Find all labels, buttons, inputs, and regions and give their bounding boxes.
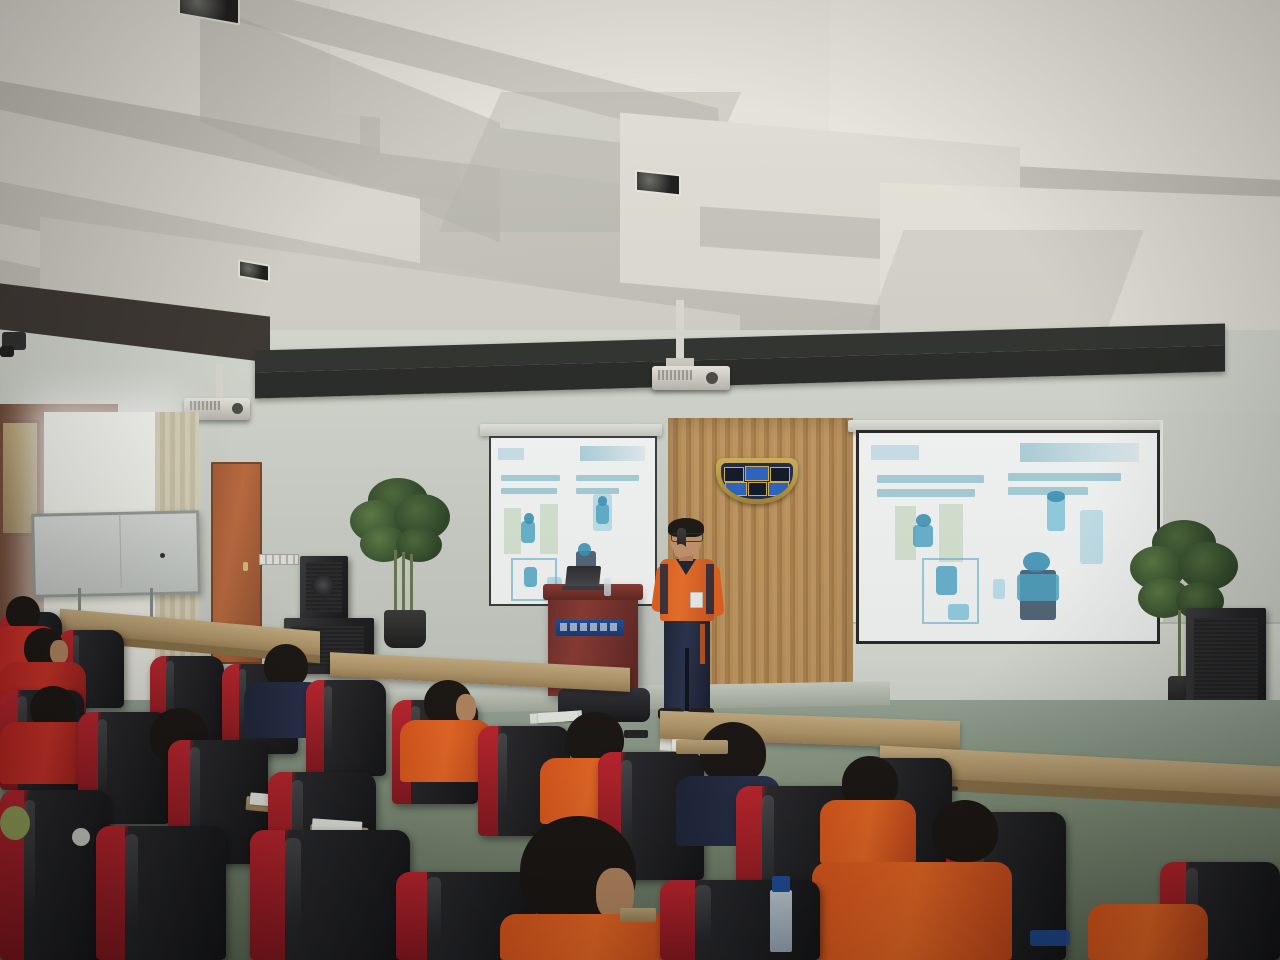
water-bottle[interactable] — [604, 578, 611, 596]
presenter-laptop[interactable] — [565, 566, 601, 588]
presenter-leg-gap — [685, 648, 689, 711]
slide-title-left — [580, 446, 646, 461]
seat[interactable] — [96, 826, 226, 960]
uniform-stripe — [706, 564, 714, 614]
id-badge — [690, 592, 703, 608]
seat-writing-tablet[interactable] — [620, 908, 656, 922]
attendee-face — [456, 694, 476, 722]
seat[interactable] — [306, 680, 386, 776]
slide-header-accent-right — [871, 445, 919, 460]
recessed-ceiling-light — [635, 170, 681, 197]
slide-body-line — [877, 475, 984, 483]
mobile-phone[interactable] — [624, 730, 648, 738]
projection-screen-right — [856, 430, 1160, 644]
presenter-hand — [674, 544, 687, 558]
attendee-body — [812, 862, 1012, 960]
geely-automotive-emblem — [716, 458, 798, 504]
attendee-head — [932, 800, 998, 862]
attendee-face — [50, 640, 68, 664]
attendee-body — [820, 800, 916, 864]
slide-body-line — [501, 488, 557, 495]
projector-lens-icon — [706, 372, 718, 384]
eyeglasses-icon — [671, 533, 703, 542]
seat[interactable] — [250, 830, 410, 960]
door-handle-icon[interactable] — [243, 562, 248, 571]
meeting-room-photo — [0, 0, 1280, 960]
bag-item — [0, 806, 30, 840]
bottle-cap — [772, 876, 790, 892]
whiteboard-magnet — [160, 553, 165, 558]
slide-body-line — [501, 475, 560, 482]
mobile-whiteboard[interactable] — [31, 510, 201, 597]
slide-body-line — [576, 475, 638, 482]
projector-vent — [190, 401, 220, 410]
light-switch-panel[interactable] — [259, 554, 299, 565]
lectern-plaque-text — [560, 623, 618, 631]
camera-lens-icon — [0, 346, 14, 357]
seat[interactable] — [660, 880, 820, 960]
cup — [72, 828, 90, 846]
slide-right — [859, 433, 1157, 641]
projector-mount-pole — [216, 364, 223, 400]
slide-body-line — [1008, 473, 1121, 481]
projector-vent — [658, 370, 692, 380]
slide-body-line — [576, 488, 619, 495]
blue-item — [1030, 930, 1070, 946]
water-bottle[interactable] — [770, 890, 792, 952]
slide-body-line — [877, 489, 975, 497]
uniform-stripe — [660, 564, 668, 614]
attendee-head — [6, 596, 40, 630]
projector-lens-icon — [232, 403, 243, 414]
presenter — [652, 520, 726, 726]
pa-speaker-stack — [300, 556, 348, 620]
slide-header-accent-left — [498, 448, 524, 460]
uniform-stripe — [700, 624, 705, 664]
screen-housing-left — [480, 424, 662, 436]
seat-writing-tablet[interactable] — [676, 740, 728, 754]
projector-mount-pole — [676, 300, 684, 364]
potted-indoor-tree — [350, 478, 450, 658]
attendee-body — [1088, 904, 1208, 960]
slide-title-right — [1020, 443, 1139, 462]
laptop-base — [562, 586, 604, 590]
